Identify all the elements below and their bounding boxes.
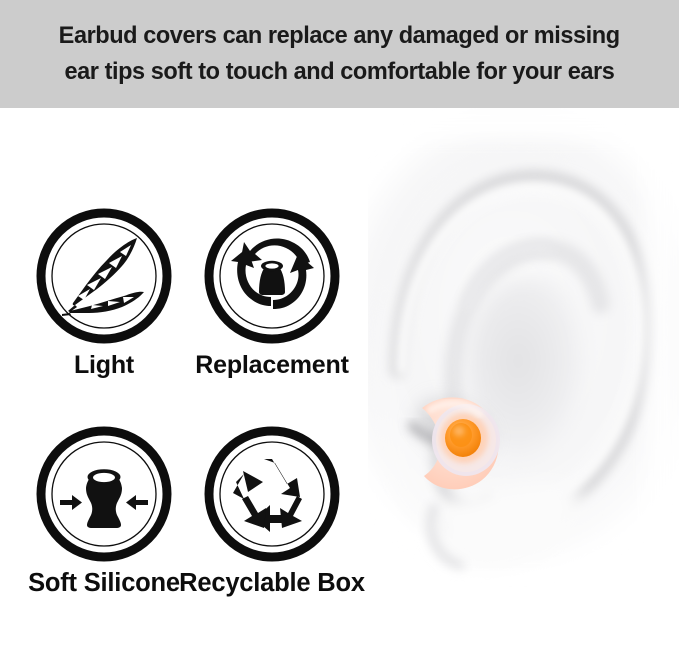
replacement-arrows-icon (202, 206, 342, 346)
feature-label-recyclable-box: Recyclable Box (179, 568, 365, 598)
headline-line-2: ear tips soft to touch and comfortable f… (65, 54, 615, 90)
feature-label-replacement: Replacement (195, 350, 348, 380)
feature-item-light: Light (14, 206, 194, 431)
compressible-eartip-icon (34, 424, 174, 564)
feature-item-replacement: Replacement (182, 206, 362, 431)
feather-icon (34, 206, 174, 346)
recycle-icon (202, 424, 342, 564)
feature-label-soft-silicone: Soft Silicone (28, 568, 180, 598)
header-banner: Earbud covers can replace any damaged or… (0, 0, 679, 108)
feature-label-light: Light (74, 350, 134, 380)
feature-grid: Light (0, 108, 400, 611)
ear-with-eartip-photo (368, 108, 679, 611)
feature-item-recyclable-box: Recyclable Box (182, 424, 362, 649)
main-content: Light (0, 108, 679, 611)
feature-item-soft-silicone: Soft Silicone (14, 424, 194, 649)
headline-line-1: Earbud covers can replace any damaged or… (59, 18, 620, 54)
